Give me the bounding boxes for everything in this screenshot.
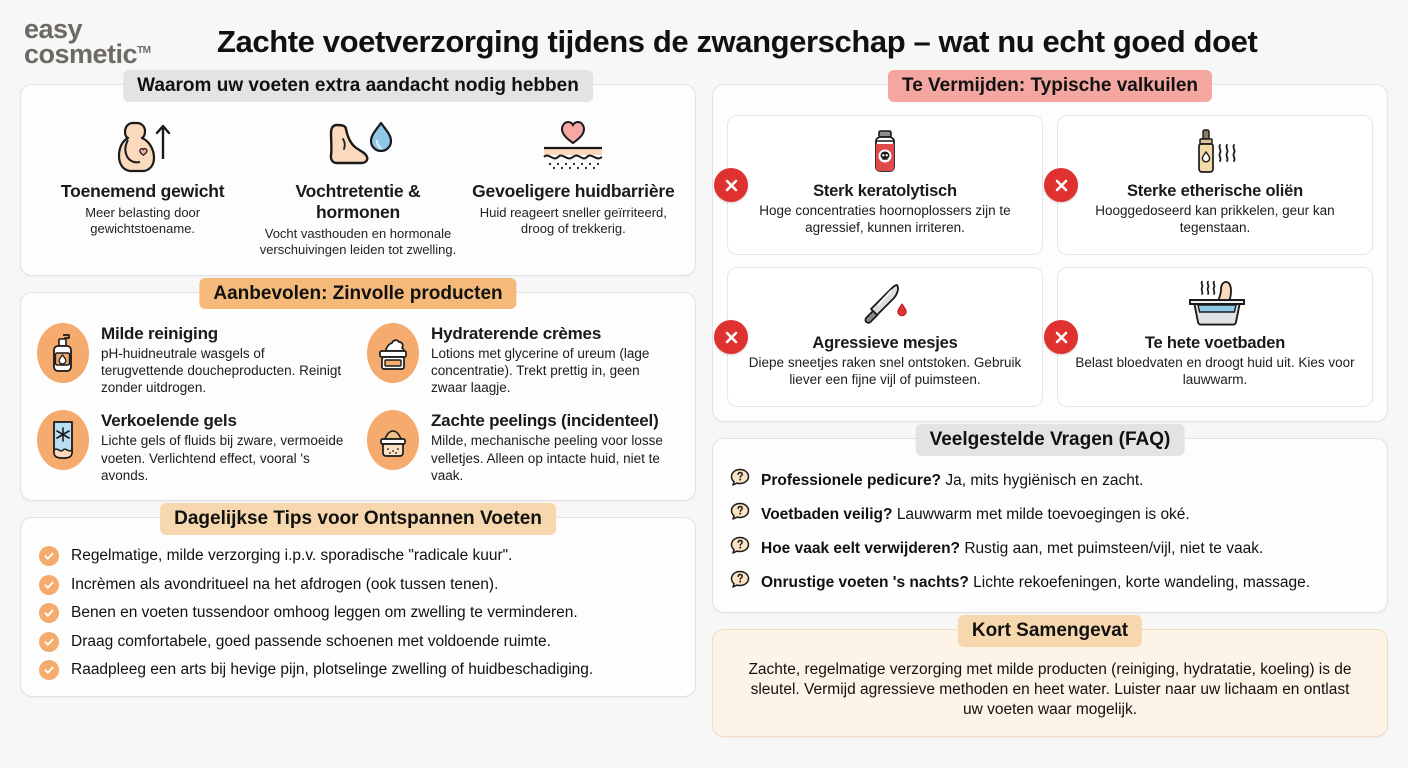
check-circle-icon	[39, 575, 59, 595]
question-bubble-icon	[729, 535, 751, 562]
avoid-heading: Agressieve mesjes	[738, 334, 1032, 353]
product-item: Verkoelende gels Lichte gels of fluids b…	[37, 410, 349, 484]
faq-item: Voetbaden veilig? Lauwwarm met milde toe…	[729, 501, 1371, 528]
faq-text: Voetbaden veilig? Lauwwarm met milde toe…	[761, 506, 1190, 524]
products-section: Aanbevolen: Zinvolle producten	[20, 292, 696, 502]
why-item-text: Meer belasting door gewichtstoename.	[41, 205, 244, 238]
faq-item: Hoe vaak eelt verwijderen? Rustig aan, m…	[729, 535, 1371, 562]
tip-item: Raadpleeg een arts bij hevige pijn, plot…	[39, 660, 677, 680]
why-section: Waarom uw voeten extra aandacht nodig he…	[20, 84, 696, 276]
tip-item: Incrèmen als avondritueel na het afdroge…	[39, 575, 677, 595]
check-circle-icon	[39, 660, 59, 680]
faq-question: Voetbaden veilig?	[761, 506, 893, 523]
avoid-text: Diepe sneetjes raken snel ontstoken. Geb…	[738, 355, 1032, 389]
avoid-heading: Sterk keratolytisch	[738, 182, 1032, 201]
faq-question: Hoe vaak eelt verwijderen?	[761, 540, 960, 557]
brand-logo: easy cosmeticTM	[24, 17, 189, 67]
trademark-mark: TM	[137, 45, 150, 56]
tip-item: Benen en voeten tussendoor omhoog leggen…	[39, 603, 677, 623]
poison-bottle-skull-icon	[738, 126, 1032, 178]
product-item: Milde reiniging pH-huidneutrale wasgels …	[37, 323, 349, 397]
product-heading: Milde reiniging	[101, 324, 349, 344]
why-item-text: Huid reageert sneller geïrriteerd, droog…	[472, 205, 675, 238]
faq-answer: Rustig aan, met puimsteen/vijl, niet te …	[964, 540, 1263, 557]
product-item: Zachte peelings (incidenteel) Milde, mec…	[367, 410, 679, 484]
product-heading: Zachte peelings (incidenteel)	[431, 411, 679, 431]
x-circle-icon	[714, 320, 748, 354]
check-circle-icon	[39, 546, 59, 566]
why-item-heading: Vochtretentie & hormonen	[256, 181, 459, 223]
summary-section: Kort Samengevat Zachte, regelmatige verz…	[712, 629, 1388, 737]
right-column: Te Vermijden: Typische valkuilen	[712, 84, 1388, 737]
product-heading: Verkoelende gels	[101, 411, 349, 431]
why-item: Gevoeligere huidbarrière Huid reageert s…	[466, 115, 681, 259]
avoid-heading: Sterke etherische oliën	[1068, 182, 1362, 201]
blade-blood-drop-icon	[738, 278, 1032, 330]
why-item-heading: Toenemend gewicht	[41, 181, 244, 202]
cooling-tube-icon	[37, 410, 89, 470]
why-item: Vochtretentie & hormonen Vocht vasthoude…	[250, 115, 465, 259]
avoid-text: Hoge concentraties hoornoplossers zijn t…	[738, 203, 1032, 237]
avoid-text: Belast bloedvaten en droogt huid uit. Ki…	[1068, 355, 1362, 389]
product-text: Lichte gels of fluids bij zware, vermoei…	[101, 432, 349, 484]
tip-text: Incrèmen als avondritueel na het afdroge…	[71, 576, 498, 594]
product-text: Lotions met glycerine of ureum (lage con…	[431, 345, 679, 397]
summary-text: Zachte, regelmatige verzorging met milde…	[739, 660, 1361, 720]
question-bubble-icon	[729, 467, 751, 494]
why-section-title: Waarom uw voeten extra aandacht nodig he…	[123, 70, 593, 102]
summary-section-title: Kort Samengevat	[958, 615, 1142, 647]
faq-section-title: Veelgestelde Vragen (FAQ)	[916, 424, 1185, 456]
skin-barrier-heart-icon	[472, 115, 675, 173]
cream-jar-icon	[367, 323, 419, 383]
faq-text: Professionele pedicure? Ja, mits hygiëni…	[761, 472, 1144, 490]
faq-question: Onrustige voeten 's nachts?	[761, 574, 969, 591]
question-bubble-icon	[729, 569, 751, 596]
tips-section-title: Dagelijkse Tips voor Ontspannen Voeten	[160, 503, 556, 535]
avoid-heading: Te hete voetbaden	[1068, 334, 1362, 353]
product-text: Milde, mechanische peeling voor losse ve…	[431, 432, 679, 484]
product-item: Hydraterende crèmes Lotions met glycerin…	[367, 323, 679, 397]
product-heading: Hydraterende crèmes	[431, 324, 679, 344]
faq-text: Onrustige voeten 's nachts? Lichte rekoe…	[761, 574, 1310, 592]
faq-item: Onrustige voeten 's nachts? Lichte rekoe…	[729, 569, 1371, 596]
pregnant-belly-icon	[41, 115, 244, 173]
infographic-page: easy cosmeticTM Zachte voetverzorging ti…	[0, 0, 1408, 768]
foot-water-drop-icon	[256, 115, 459, 173]
content-columns: Waarom uw voeten extra aandacht nodig he…	[0, 84, 1408, 737]
tips-section: Dagelijkse Tips voor Ontspannen Voeten R…	[20, 517, 696, 697]
avoid-section: Te Vermijden: Typische valkuilen	[712, 84, 1388, 422]
why-item-heading: Gevoeligere huidbarrière	[472, 181, 675, 202]
faq-answer: Lauwwarm met milde toevoegingen is oké.	[897, 506, 1190, 523]
avoid-card: Agressieve mesjes Diepe sneetjes raken s…	[727, 267, 1043, 407]
faq-answer: Ja, mits hygiënisch en zacht.	[945, 472, 1143, 489]
tip-item: Regelmatige, milde verzorging i.p.v. spo…	[39, 546, 677, 566]
tip-item: Draag comfortabele, goed passende schoen…	[39, 632, 677, 652]
x-circle-icon	[1044, 168, 1078, 202]
essential-oil-dropper-icon	[1068, 126, 1362, 178]
page-title: Zachte voetverzorging tijdens de zwanger…	[217, 24, 1257, 60]
check-circle-icon	[39, 603, 59, 623]
tip-text: Regelmatige, milde verzorging i.p.v. spo…	[71, 547, 512, 565]
faq-section: Veelgestelde Vragen (FAQ) Professionele …	[712, 438, 1388, 613]
check-circle-icon	[39, 632, 59, 652]
brand-line-2: cosmeticTM	[24, 42, 151, 67]
faq-answer: Lichte rekoefeningen, korte wandeling, m…	[973, 574, 1310, 591]
avoid-card: Sterke etherische oliën Hooggedoseerd ka…	[1057, 115, 1373, 255]
scrub-jar-icon	[367, 410, 419, 470]
tip-text: Benen en voeten tussendoor omhoog leggen…	[71, 604, 578, 622]
tip-text: Raadpleeg een arts bij hevige pijn, plot…	[71, 661, 593, 679]
faq-text: Hoe vaak eelt verwijderen? Rustig aan, m…	[761, 540, 1263, 558]
avoid-card: Te hete voetbaden Belast bloedvaten en d…	[1057, 267, 1373, 407]
faq-item: Professionele pedicure? Ja, mits hygiëni…	[729, 467, 1371, 494]
x-circle-icon	[714, 168, 748, 202]
faq-question: Professionele pedicure?	[761, 472, 941, 489]
avoid-card: Sterk keratolytisch Hoge concentraties h…	[727, 115, 1043, 255]
question-bubble-icon	[729, 501, 751, 528]
hot-footbath-icon	[1068, 278, 1362, 330]
products-section-title: Aanbevolen: Zinvolle producten	[199, 278, 516, 310]
x-circle-icon	[1044, 320, 1078, 354]
why-item-text: Vocht vasthouden en hormonale verschuivi…	[256, 226, 459, 259]
left-column: Waarom uw voeten extra aandacht nodig he…	[20, 84, 696, 737]
pump-bottle-icon	[37, 323, 89, 383]
product-text: pH-huidneutrale wasgels of terugvettende…	[101, 345, 349, 397]
tip-text: Draag comfortabele, goed passende schoen…	[71, 633, 551, 651]
avoid-section-title: Te Vermijden: Typische valkuilen	[888, 70, 1212, 102]
why-item: Toenemend gewicht Meer belasting door ge…	[35, 115, 250, 259]
avoid-text: Hooggedoseerd kan prikkelen, geur kan te…	[1068, 203, 1362, 237]
